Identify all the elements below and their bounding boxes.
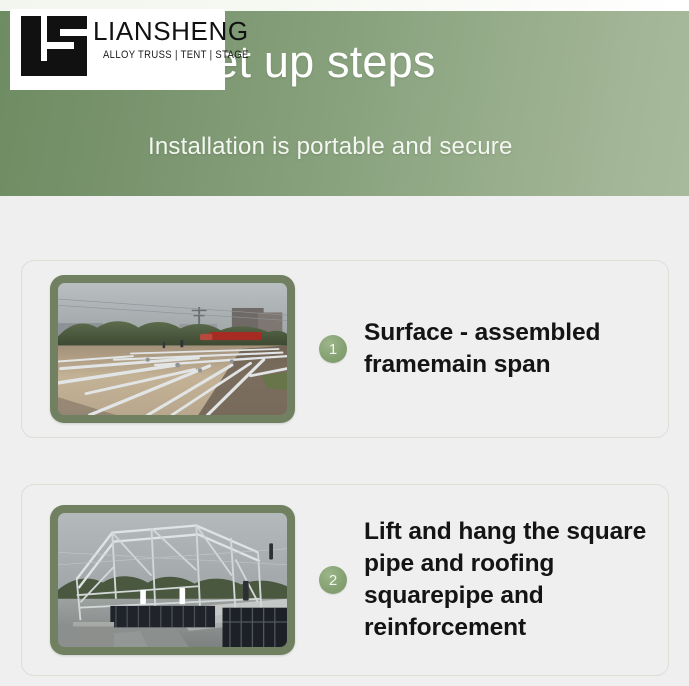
steps-list: 1 Surface - assembled framemain span [0,196,689,686]
page-root: Set up steps Installation is portable an… [0,0,689,686]
step-2-photo [58,513,287,647]
step-2-photo-frame [50,505,295,655]
step-2-number-badge: 2 [319,566,347,594]
step-2-body: 2 Lift and hang the square pipe and roof… [295,516,668,643]
step-1-text: Surface - assembled framemain span [364,317,654,381]
brand-tagline: ALLOY TRUSS | TENT | STAGE [93,50,249,61]
step-card-1: 1 Surface - assembled framemain span [21,260,669,438]
ls-monogram-logo-icon [21,16,87,76]
step-1-body: 1 Surface - assembled framemain span [295,317,668,381]
brand-logo: LIANSHENG ALLOY TRUSS | TENT | STAGE [10,9,225,90]
step-2-text: Lift and hang the square pipe and roofin… [364,516,654,643]
step-card-2: 2 Lift and hang the square pipe and roof… [21,484,669,676]
step-1-photo-frame [50,275,295,423]
brand-name: LIANSHENG [93,18,249,44]
step-1-photo [58,283,287,415]
brand-text-block: LIANSHENG ALLOY TRUSS | TENT | STAGE [93,18,249,60]
step-1-number-badge: 1 [319,335,347,363]
page-subtitle: Installation is portable and secure [148,133,513,161]
